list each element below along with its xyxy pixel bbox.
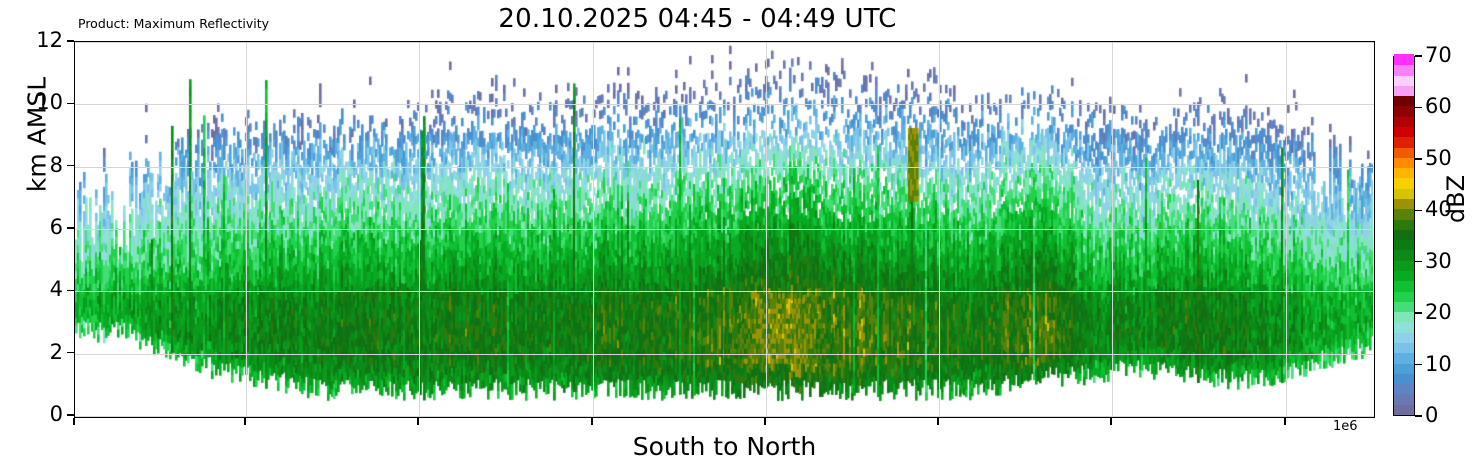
- colorbar-gradient: [1393, 56, 1415, 416]
- x-axis-tick: [244, 418, 246, 425]
- colorbar-segment: [1394, 260, 1414, 271]
- x-axis-tick: [937, 418, 939, 425]
- y-axis-tick-label: 12: [36, 30, 63, 51]
- colorbar-segment: [1394, 188, 1414, 199]
- y-axis-tick: [67, 227, 74, 229]
- colorbar-segment: [1394, 85, 1414, 96]
- plot-area: [74, 41, 1375, 418]
- reflectivity-heatmap: [75, 42, 1373, 416]
- colorbar-tick-label: 70: [1425, 45, 1452, 66]
- colorbar-segment: [1394, 106, 1414, 117]
- colorbar-tick: [1415, 261, 1422, 262]
- colorbar-segment: [1394, 157, 1414, 168]
- colorbar-tick-label: 10: [1425, 354, 1452, 375]
- y-axis-tick-label: 10: [36, 92, 63, 113]
- colorbar-segment: [1394, 394, 1414, 405]
- product-label: Product: Maximum Reflectivity: [78, 16, 269, 31]
- x-axis-label: South to North: [74, 432, 1375, 461]
- radar-cross-section-figure: 20.10.2025 04:45 - 04:49 UTC Product: Ma…: [0, 0, 1482, 470]
- colorbar-segment: [1394, 250, 1414, 261]
- colorbar-segment: [1394, 219, 1414, 230]
- colorbar-segment: [1394, 404, 1414, 415]
- colorbar-segment: [1394, 281, 1414, 292]
- colorbar-segment: [1394, 229, 1414, 240]
- y-axis-tick-label: 2: [50, 342, 63, 363]
- x-axis-tick: [591, 418, 593, 425]
- x-axis-tick: [73, 418, 75, 425]
- colorbar-segment: [1394, 322, 1414, 333]
- x-axis-tick: [764, 418, 766, 425]
- colorbar-tick: [1415, 364, 1422, 365]
- colorbar-segment: [1394, 54, 1414, 65]
- y-axis-tick-label: 4: [50, 279, 63, 300]
- y-axis-tick: [67, 352, 74, 354]
- colorbar-tick-label: 50: [1425, 148, 1452, 169]
- y-axis-tick-label: 0: [50, 404, 63, 425]
- colorbar-segment: [1394, 137, 1414, 148]
- colorbar-segment: [1394, 96, 1414, 107]
- y-axis-tick: [67, 165, 74, 167]
- colorbar-segment: [1394, 363, 1414, 374]
- colorbar-segment: [1394, 168, 1414, 179]
- colorbar-tick: [1415, 312, 1422, 313]
- y-axis-tick-label: 6: [50, 217, 63, 238]
- colorbar-segment: [1394, 75, 1414, 86]
- colorbar-segment: [1394, 116, 1414, 127]
- y-axis-tick: [67, 290, 74, 292]
- y-axis-tick: [67, 103, 74, 105]
- colorbar-segment: [1394, 312, 1414, 323]
- colorbar-tick: [1415, 55, 1422, 56]
- colorbar-segment: [1394, 342, 1414, 353]
- colorbar-segment: [1394, 240, 1414, 251]
- x-axis-offset-text: 1e6: [1333, 419, 1358, 434]
- y-axis-label: km AMSL: [23, 40, 52, 230]
- colorbar-segment: [1394, 209, 1414, 220]
- colorbar-tick: [1415, 415, 1422, 416]
- colorbar-segment: [1394, 65, 1414, 76]
- colorbar-segment: [1394, 384, 1414, 395]
- colorbar-tick: [1415, 107, 1422, 108]
- colorbar-segment: [1394, 147, 1414, 158]
- x-axis-tick: [1284, 418, 1286, 425]
- colorbar-segment: [1394, 291, 1414, 302]
- colorbar-tick-label: 30: [1425, 251, 1452, 272]
- colorbar-segment: [1394, 373, 1414, 384]
- colorbar-segment: [1394, 178, 1414, 189]
- colorbar-segment: [1394, 301, 1414, 312]
- colorbar-segment: [1394, 270, 1414, 281]
- y-axis-tick: [67, 414, 74, 416]
- colorbar-segment: [1394, 198, 1414, 209]
- y-axis-tick: [67, 40, 74, 42]
- x-axis-tick: [1110, 418, 1112, 425]
- y-axis-tick-label: 8: [50, 155, 63, 176]
- colorbar-tick-label: 0: [1425, 405, 1438, 426]
- gridline-horizontal: [75, 416, 1374, 417]
- colorbar-segment: [1394, 126, 1414, 137]
- colorbar-tick-label: 60: [1425, 96, 1452, 117]
- colorbar-tick-label: 20: [1425, 302, 1452, 323]
- colorbar: [1393, 56, 1415, 416]
- colorbar-tick: [1415, 210, 1422, 211]
- x-axis-tick: [417, 418, 419, 425]
- colorbar-segment: [1394, 353, 1414, 364]
- colorbar-tick-label: 40: [1425, 199, 1452, 220]
- colorbar-segment: [1394, 332, 1414, 343]
- colorbar-tick: [1415, 158, 1422, 159]
